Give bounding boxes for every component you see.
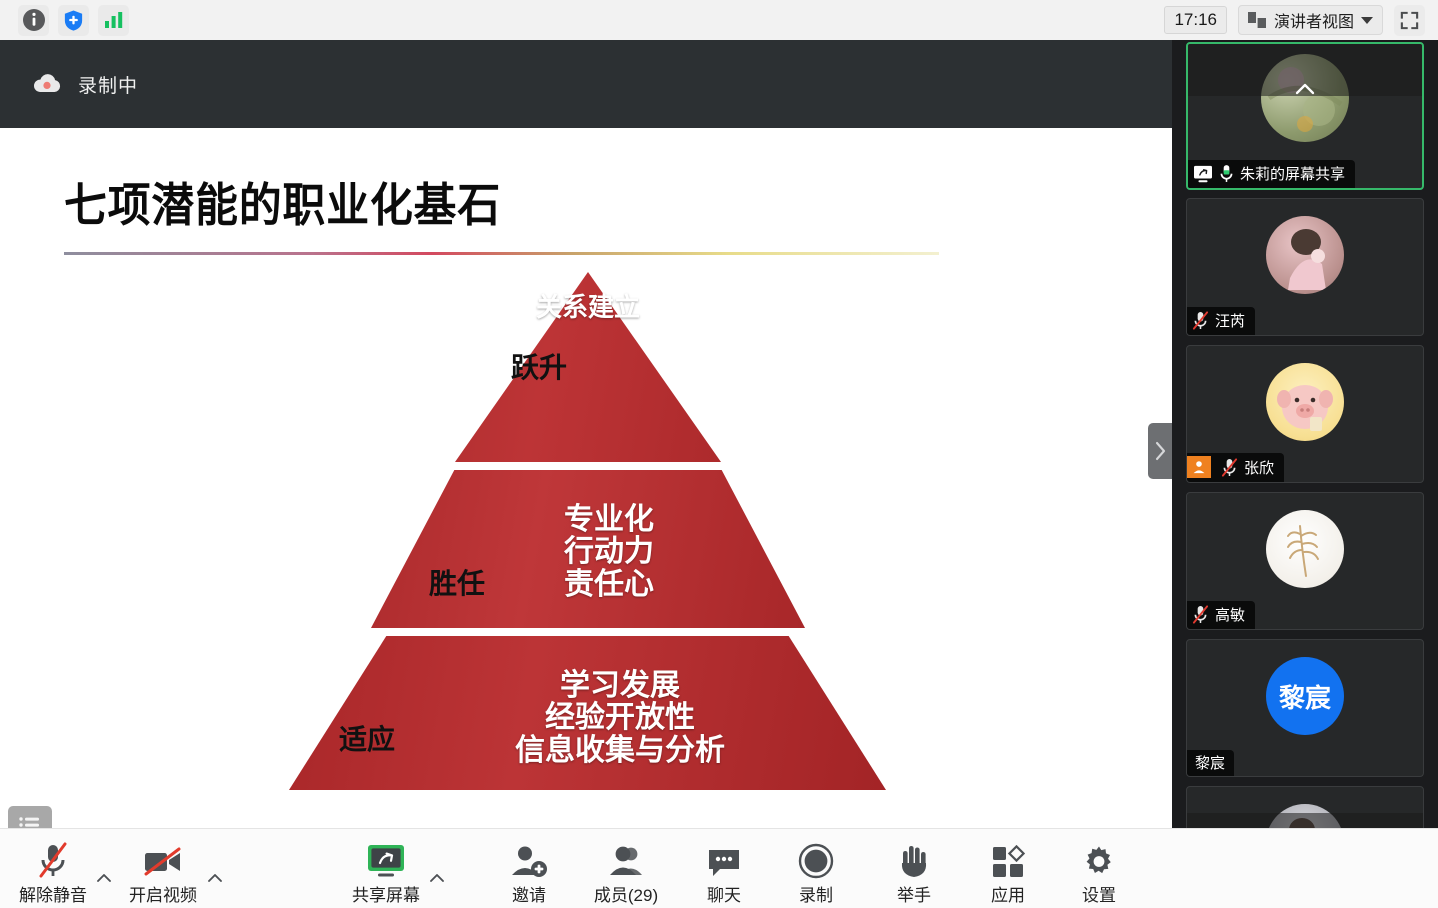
tier-top-stage-label: 跃升 xyxy=(511,346,567,386)
meeting-window: 17:16 演讲者视图 录制中 七项潜能的职业化基石 xyxy=(0,0,1438,908)
toolbar-item-mute[interactable]: 解除静音 xyxy=(7,837,99,906)
avatar-initials-text: 黎宸 xyxy=(1279,678,1331,715)
view-mode-label: 演讲者视图 xyxy=(1274,8,1354,32)
title-underline-rule xyxy=(64,252,939,255)
chevron-up-icon[interactable] xyxy=(1288,78,1322,100)
toolbar-label: 成员(29) xyxy=(594,881,658,906)
annotation-list-icon[interactable] xyxy=(8,806,52,828)
participant-name: 高敏 xyxy=(1215,604,1245,625)
participant-tile[interactable]: 汪芮 xyxy=(1186,198,1424,336)
participant-panel[interactable]: 朱莉的屏幕共享 汪芮 张欣 xyxy=(1172,40,1438,828)
mic-on-icon xyxy=(1219,164,1234,183)
toolbar-label: 开启视频 xyxy=(129,881,197,906)
record-icon xyxy=(798,837,834,879)
mic-options-chevron[interactable] xyxy=(96,873,112,883)
mic-off-icon xyxy=(1221,458,1238,477)
avatar xyxy=(1266,363,1344,441)
toolbar-item-participants[interactable]: 成员(29) xyxy=(580,837,672,906)
info-circle-icon[interactable] xyxy=(18,5,49,36)
toolbar-label: 举手 xyxy=(897,881,931,906)
invite-icon xyxy=(510,837,548,879)
settings-gear-icon xyxy=(1082,837,1116,879)
participant-name: 黎宸 xyxy=(1195,752,1225,773)
name-tag: 汪芮 xyxy=(1187,307,1255,335)
tier-middle-item-2: 责任心 xyxy=(479,569,739,601)
apps-icon xyxy=(991,837,1025,879)
tier-bottom-item-2: 信息收集与分析 xyxy=(459,735,781,767)
participant-name: 朱莉的屏幕共享 xyxy=(1240,163,1345,184)
presentation-slide: 七项潜能的职业化基石 关系建立 跃升 专业化 行动力 责任心 胜任 学习发展 xyxy=(0,128,1172,828)
shield-plus-icon[interactable] xyxy=(58,5,89,36)
participant-tile[interactable]: 黎宸 黎宸 xyxy=(1186,639,1424,777)
video-options-chevron[interactable] xyxy=(207,873,223,883)
cloud-record-icon xyxy=(32,73,62,95)
participants-icon xyxy=(607,837,645,879)
participant-tile[interactable]: 张欣 xyxy=(1186,345,1424,483)
toolbar-item-video[interactable]: 开启视频 xyxy=(117,837,209,906)
participant-name: 汪芮 xyxy=(1215,310,1245,331)
toolbar-item-raise-hand[interactable]: 举手 xyxy=(868,837,960,906)
toolbar-item-invite[interactable]: 邀请 xyxy=(483,837,575,906)
signal-bars-icon[interactable] xyxy=(98,5,129,36)
toolbar-label: 解除静音 xyxy=(19,881,87,906)
recording-label: 录制中 xyxy=(78,71,138,98)
participant-name: 张欣 xyxy=(1244,457,1274,478)
toolbar-item-chat[interactable]: 聊天 xyxy=(678,837,770,906)
avatar xyxy=(1266,510,1344,588)
view-mode-selector[interactable]: 演讲者视图 xyxy=(1238,5,1383,35)
toolbar-item-apps[interactable]: 应用 xyxy=(962,837,1054,906)
layout-icon xyxy=(1247,11,1267,29)
tier-top-item-0: 关系建立 xyxy=(455,294,721,322)
tier-bottom-item-1: 经验开放性 xyxy=(459,702,781,734)
chevron-right-icon xyxy=(1154,441,1167,461)
toolbar-label: 聊天 xyxy=(707,881,741,906)
share-options-chevron[interactable] xyxy=(429,873,445,883)
participant-tile[interactable] xyxy=(1186,786,1424,828)
tier-middle-stage-label: 胜任 xyxy=(429,562,485,602)
mic-off-icon xyxy=(1192,311,1209,330)
scroll-down-overlay[interactable] xyxy=(1187,813,1424,828)
share-screen-icon xyxy=(365,837,407,879)
name-tag: 黎宸 xyxy=(1187,750,1234,776)
top-bar-right-controls: 17:16 演讲者视图 xyxy=(1164,5,1438,36)
tier-bottom-items: 学习发展 经验开放性 信息收集与分析 xyxy=(459,670,781,767)
raise-hand-icon xyxy=(897,837,931,879)
fullscreen-icon[interactable] xyxy=(1394,5,1425,36)
tier-bottom-item-0: 学习发展 xyxy=(459,670,781,702)
toolbar-item-share-screen[interactable]: 共享屏幕 xyxy=(340,837,432,906)
participant-tile[interactable]: 高敏 xyxy=(1186,492,1424,630)
tier-middle-item-1: 行动力 xyxy=(479,536,739,568)
screen-share-icon xyxy=(1193,165,1213,183)
top-bar: 17:16 演讲者视图 xyxy=(0,0,1438,40)
name-tag: 高敏 xyxy=(1187,601,1255,629)
top-bar-left-icons xyxy=(0,5,129,36)
meeting-toolbar: 解除静音 开启视频 共享屏幕 邀请 xyxy=(0,828,1438,908)
name-tag: 张欣 xyxy=(1187,453,1284,482)
clock: 17:16 xyxy=(1164,6,1227,34)
avatar-initials: 黎宸 xyxy=(1266,657,1344,735)
chat-icon xyxy=(706,837,742,879)
toolbar-item-settings[interactable]: 设置 xyxy=(1053,837,1145,906)
shared-screen-stage: 录制中 七项潜能的职业化基石 关系建立 跃升 专业化 行动力 责任心 胜任 xyxy=(0,40,1172,828)
participant-tile[interactable]: 朱莉的屏幕共享 xyxy=(1186,42,1424,190)
host-badge xyxy=(1187,456,1211,478)
toolbar-item-record[interactable]: 录制 xyxy=(770,837,862,906)
camera-off-icon xyxy=(143,837,183,879)
pyramid-diagram: 关系建立 跃升 专业化 行动力 责任心 胜任 学习发展 经验开放性 信息收集与分… xyxy=(289,272,886,790)
toolbar-label: 邀请 xyxy=(512,881,546,906)
toolbar-label: 录制 xyxy=(799,881,833,906)
tier-bottom-stage-label: 适应 xyxy=(339,718,395,758)
tier-middle-items: 专业化 行动力 责任心 xyxy=(479,504,739,601)
collapse-panel-button[interactable] xyxy=(1148,423,1172,479)
avatar xyxy=(1266,216,1344,294)
mic-muted-icon xyxy=(36,837,70,879)
tier-top-items: 关系建立 xyxy=(455,294,721,322)
recording-banner: 录制中 xyxy=(0,40,1172,128)
name-tag: 朱莉的屏幕共享 xyxy=(1188,160,1355,188)
slide-title: 七项潜能的职业化基石 xyxy=(64,180,501,230)
toolbar-label: 应用 xyxy=(991,881,1025,906)
chevron-down-icon xyxy=(1361,17,1373,24)
mic-off-icon xyxy=(1192,605,1209,624)
toolbar-label: 共享屏幕 xyxy=(352,881,420,906)
toolbar-label: 设置 xyxy=(1082,881,1116,906)
tier-middle-item-0: 专业化 xyxy=(479,504,739,536)
